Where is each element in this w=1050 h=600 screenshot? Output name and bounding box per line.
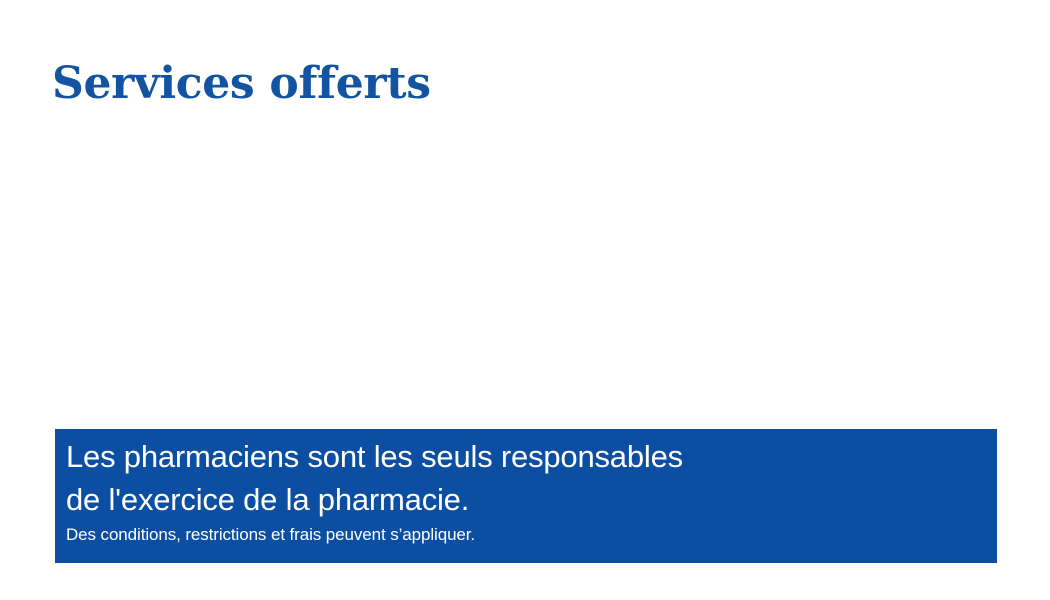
- slide-canvas: Services offerts Les pharmaciens sont le…: [0, 0, 1050, 600]
- callout-headline: Les pharmaciens sont les seuls responsab…: [66, 435, 985, 521]
- slide-content-area: [55, 130, 997, 420]
- callout-subline: Des conditions, restrictions et frais pe…: [66, 523, 985, 547]
- callout-banner: Les pharmaciens sont les seuls responsab…: [55, 429, 997, 563]
- page-title: Services offerts: [52, 58, 431, 110]
